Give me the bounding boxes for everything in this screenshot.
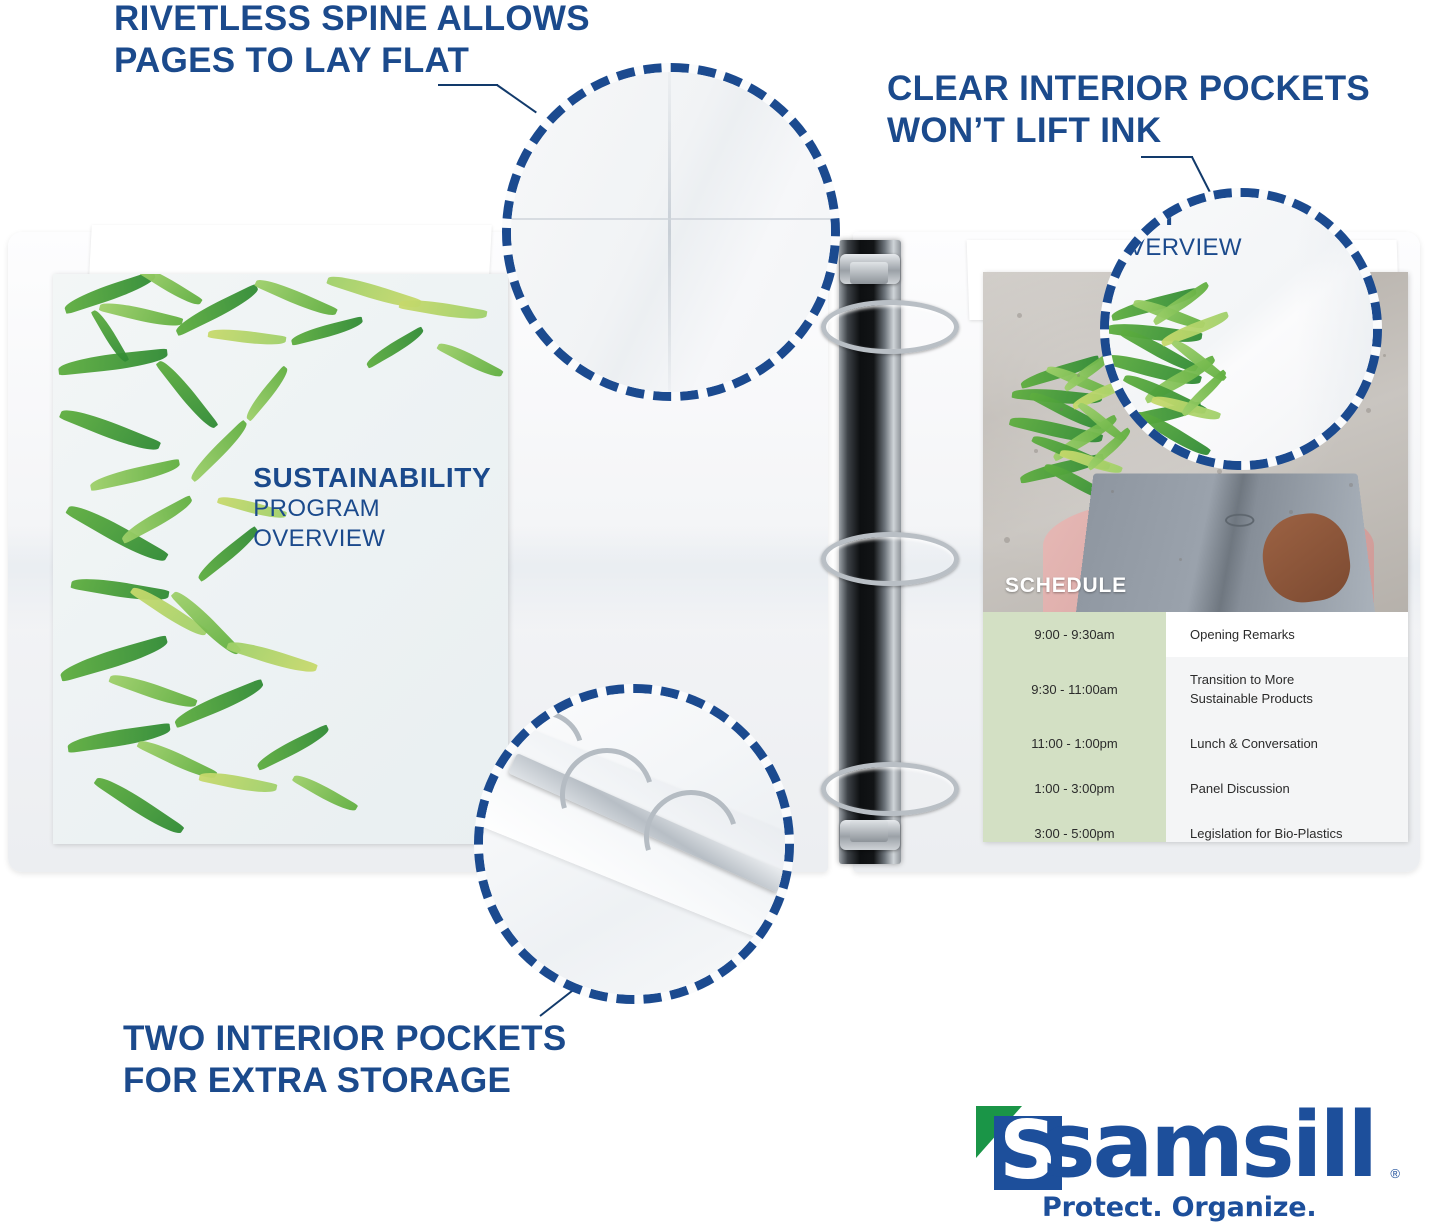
concrete-texture-speck (1004, 537, 1010, 543)
schedule-time-cell: 9:00 - 9:30am (983, 612, 1166, 657)
binder-ring-2 (821, 532, 959, 586)
bamboo-leaf (254, 274, 338, 321)
bamboo-leaf (58, 403, 160, 457)
samsill-tagline: Protect. Organize. Empower. (1042, 1192, 1396, 1227)
bamboo-leaf (436, 338, 503, 381)
schedule-topic-cell: Legislation for Bio-Plastics (1166, 811, 1408, 842)
schedule-topic-text: Legislation for Bio-Plastics (1190, 824, 1342, 842)
samsill-logo: S samsill ® Protect. Organize. Empower. (976, 1104, 1396, 1220)
concrete-texture-speck (1060, 408, 1063, 411)
schedule-topic-cell: Panel Discussion (1166, 766, 1408, 811)
tagline-protect: Protect. (1042, 1192, 1162, 1223)
concrete-texture-speck (1179, 558, 1182, 561)
left-cover-page: SUSTAINABILITY PROGRAM OVERVIEW (53, 274, 508, 844)
left-page-title-line2: PROGRAM OVERVIEW (253, 494, 508, 554)
bamboo-leaf (108, 669, 197, 713)
bamboo-leaf (98, 298, 183, 331)
callout-clear-interior-pockets: Clear interior pockets won’t lift ink (887, 68, 1370, 152)
held-binder-hole (1225, 514, 1255, 527)
concrete-texture-speck (1383, 354, 1386, 357)
leader-line-pockets-horizontal (1141, 156, 1193, 158)
tagline-empower: Empower. (1042, 1223, 1188, 1227)
zoom-circle-clear-pocket: ABILITY AM OVERVIEW (1100, 188, 1382, 470)
spine-crease-vertical (668, 63, 671, 401)
bamboo-leaf (187, 420, 251, 483)
bamboo-leaf (194, 525, 261, 581)
bamboo-leaf (57, 348, 168, 375)
concrete-texture-speck (1111, 490, 1114, 493)
bamboo-leaf (207, 326, 286, 349)
zoom-bamboo-leaves (1102, 294, 1292, 470)
concrete-texture-speck (1034, 449, 1038, 453)
product-feature-image: SUSTAINABILITY PROGRAM OVERVIEW (0, 0, 1445, 1227)
binder-ring-1 (821, 300, 959, 354)
zoom-circle-rivetless-spine (502, 63, 840, 401)
schedule-topic-cell: Opening Remarks (1166, 612, 1408, 657)
tagline-organize: Organize. (1172, 1192, 1317, 1223)
leader-line-rivetless-diagonal (496, 84, 536, 113)
zoom-circle-rivetless-spine-content (502, 63, 840, 401)
bamboo-leaf (89, 458, 182, 491)
zoom-clipped-title-line2: AM OVERVIEW (1100, 234, 1242, 262)
zoom-circle-clear-pocket-content: ABILITY AM OVERVIEW (1100, 188, 1382, 470)
binder-ring-3 (821, 762, 959, 816)
ring-lever-bottom (850, 820, 888, 842)
zoom-pocket-edge (1297, 188, 1382, 470)
bamboo-leaf (289, 317, 364, 347)
bamboo-leaf (364, 327, 427, 370)
schedule-heading: SCHEDULE (1005, 574, 1127, 598)
registered-trademark-icon: ® (1390, 1166, 1400, 1181)
schedule-topic-cell: Transition to More Sustainable Products (1166, 657, 1408, 721)
callout-two-interior-pockets: Two interior pockets for extra storage (123, 1018, 567, 1102)
schedule-topic-text: Opening Remarks (1190, 625, 1295, 644)
concrete-texture-speck (1289, 510, 1293, 514)
bamboo-leaf (65, 498, 169, 568)
schedule-time-cell: 1:00 - 3:00pm (983, 766, 1166, 811)
left-page-title-line1: SUSTAINABILITY (253, 462, 508, 494)
schedule-topic-text: Lunch & Conversation (1190, 734, 1318, 753)
schedule-topic-cell: Lunch & Conversation (1166, 721, 1408, 766)
callout-rivetless-spine: Rivetless spine allows pages to lay flat (114, 0, 590, 82)
leader-line-rivetless-horizontal (438, 84, 498, 86)
bamboo-leaf (155, 357, 218, 433)
concrete-texture-speck (1217, 469, 1222, 474)
schedule-topic-text: Transition to More Sustainable Products (1190, 670, 1313, 708)
concrete-texture-speck (1349, 483, 1353, 487)
samsill-wordmark: samsill (1042, 1100, 1375, 1192)
bamboo-leaf (226, 636, 318, 678)
left-page-title: SUSTAINABILITY PROGRAM OVERVIEW (253, 462, 508, 554)
bamboo-leaf (254, 725, 332, 772)
concrete-texture-speck (1017, 313, 1022, 318)
bamboo-leaf (291, 770, 358, 815)
bamboo-leaf (198, 768, 277, 797)
ring-lever-top (850, 262, 888, 284)
zoom-clipped-title-line1: ABILITY (1100, 200, 1179, 232)
concrete-texture-speck (1077, 374, 1080, 377)
zoom-circle-interior-pockets (474, 684, 794, 1004)
spine-crease-horizontal (502, 218, 840, 220)
bamboo-leaf (118, 495, 195, 544)
zoom-circle-interior-pockets-content (474, 684, 794, 1004)
schedule-topic-text: Panel Discussion (1190, 779, 1290, 798)
bamboo-leaf (94, 772, 185, 840)
bamboo-leaf (242, 365, 292, 421)
schedule-time-cell: 9:30 - 11:00am (983, 657, 1166, 721)
ring-mechanism (828, 232, 856, 872)
schedule-table: 9:00 - 9:30amOpening Remarks9:30 - 11:00… (983, 612, 1408, 842)
schedule-time-cell: 11:00 - 1:00pm (983, 721, 1166, 766)
schedule-time-cell: 3:00 - 5:00pm (983, 811, 1166, 842)
